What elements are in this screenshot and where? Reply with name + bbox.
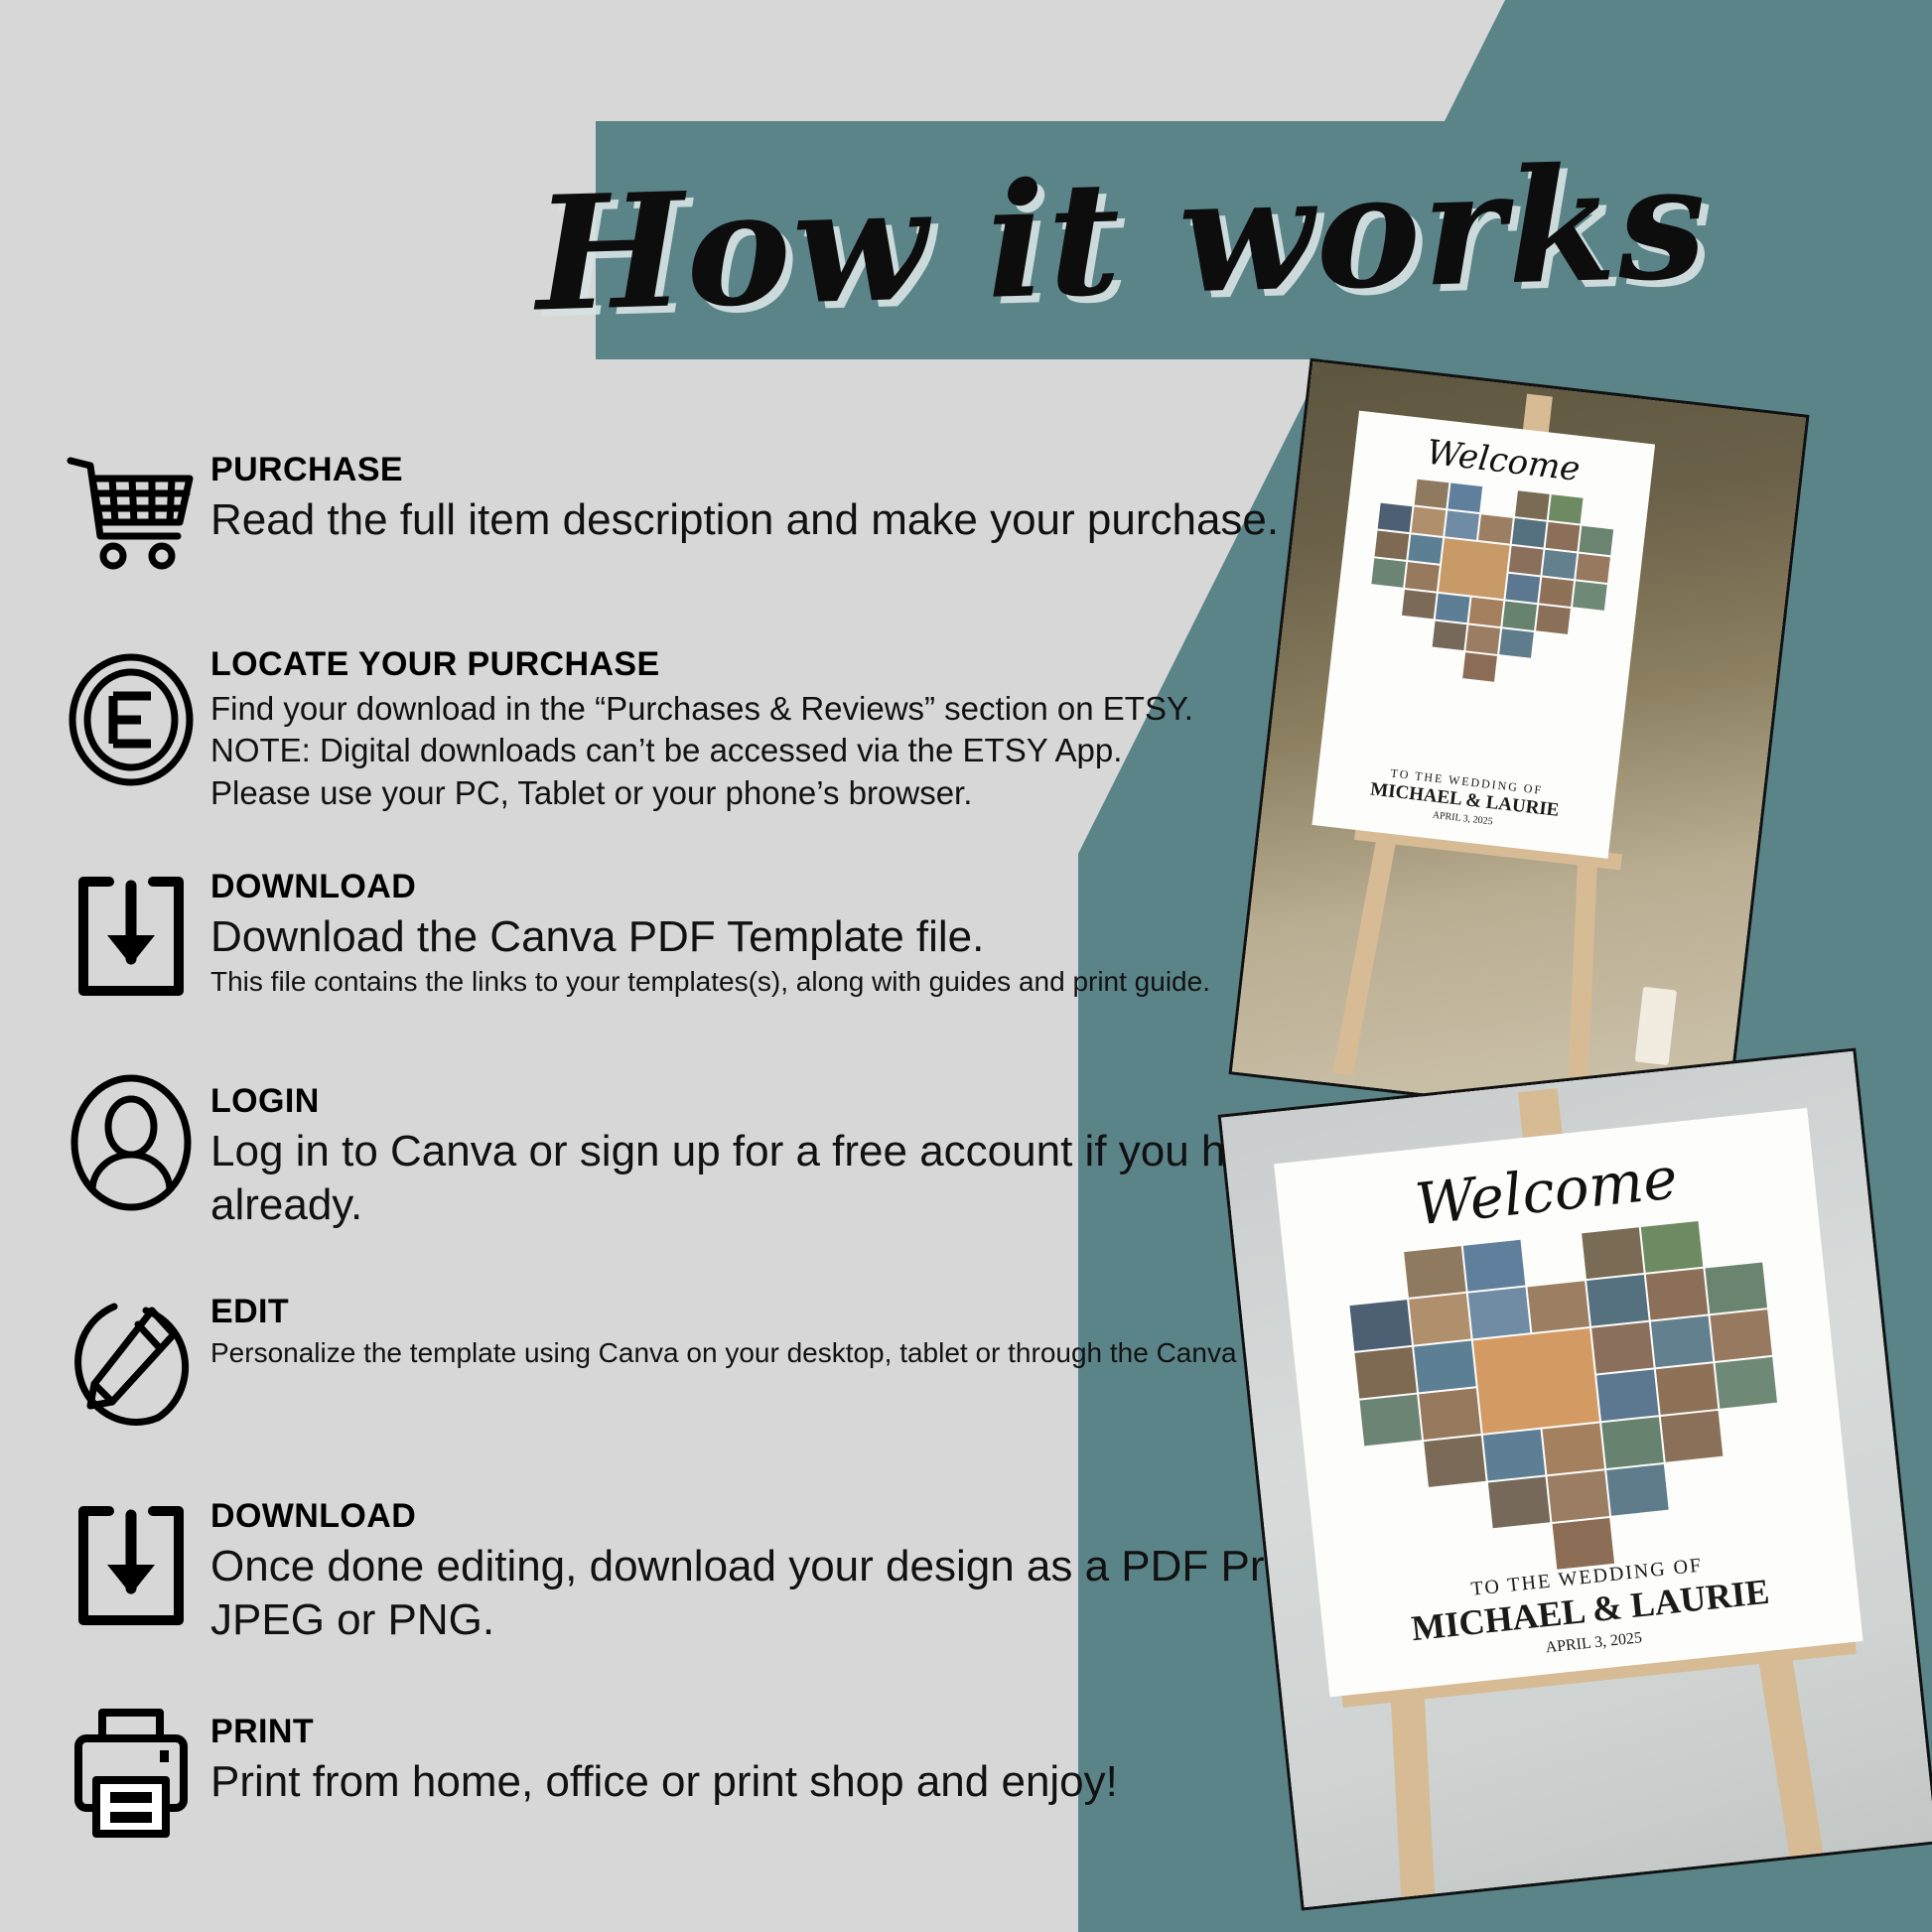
candle-decor [1635,987,1677,1065]
step-title: PRINT [210,1713,1118,1751]
step-body: PRINT Print from home, office or print s… [210,1699,1118,1809]
step-title: PURCHASE [210,451,1279,489]
step-body: DOWNLOAD Download the Canva PDF Template… [210,862,1210,1000]
heart-photo-collage [1362,476,1616,693]
step-body: EDIT Personalize the template using Canv… [210,1287,1299,1371]
step-body: DOWNLOAD Once done editing, download you… [210,1491,1390,1646]
step-line: This file contains the links to your tem… [210,964,1210,1000]
step-line: NOTE: Digital downloads can’t be accesse… [210,730,1193,771]
user-account-icon [52,1068,210,1217]
easel-leg-left [1390,1676,1436,1897]
welcome-sign-card: Welcome [1274,1108,1863,1697]
step-title: DOWNLOAD [210,868,1210,906]
step-body: LOGIN Log in to Canva or sign up for a f… [210,1068,1390,1231]
easel-leg-left [1333,828,1398,1075]
page-title: How it works [632,95,1612,380]
step-line: Read the full item description and make … [210,493,1279,547]
step-body: LOCATE YOUR PURCHASE Find your download … [210,645,1193,814]
step-title: EDIT [210,1293,1299,1331]
easel-leg-right [1568,852,1598,1101]
sign-footer: TO THE WEDDING OF MICHAEL & LAURIE APRIL… [1367,764,1562,841]
welcome-sign-card: Welcome [1311,411,1655,859]
sign-welcome-text: Welcome [1412,1144,1680,1238]
step-line: Find your download in the “Purchases & R… [210,688,1193,730]
step-download-template: DOWNLOAD Download the Canva PDF Template… [0,862,1390,1011]
easel-leg-right [1755,1636,1823,1860]
pencil-edit-icon [52,1287,210,1436]
step-line: Log in to Canva or sign up for a free ac… [210,1125,1390,1231]
printer-icon [52,1699,210,1848]
step-title: LOCATE YOUR PURCHASE [210,645,1193,684]
step-line: Download the Canva PDF Template file. [210,910,1210,964]
step-line: Please use your PC, Tablet or your phone… [210,772,1193,814]
step-line: Print from home, office or print shop an… [210,1755,1118,1809]
heart-photo-collage [1344,1215,1792,1588]
step-purchase: PURCHASE Read the full item description … [0,437,1390,586]
product-photo-welcome-sign-closeup: Welcome [1221,1051,1932,1908]
download-icon [52,862,210,1011]
step-title: DOWNLOAD [210,1497,1390,1536]
etsy-e-icon [52,645,210,794]
download-icon [52,1491,210,1640]
sign-welcome-text: Welcome [1425,433,1583,489]
step-title: LOGIN [210,1082,1390,1121]
step-line: Once done editing, download your design … [210,1540,1390,1646]
step-locate-your-purchase: LOCATE YOUR PURCHASE Find your download … [0,645,1390,814]
product-photo-welcome-sign-easel: Welcome [1232,361,1806,1128]
steps-list: PURCHASE Read the full item description … [0,437,1390,1848]
step-edit: EDIT Personalize the template using Canv… [0,1287,1390,1436]
step-print: PRINT Print from home, office or print s… [0,1699,1390,1848]
shopping-cart-icon [52,437,210,586]
step-line: Personalize the template using Canva on … [210,1335,1299,1371]
step-body: PURCHASE Read the full item description … [210,437,1279,547]
step-download-design: DOWNLOAD Once done editing, download you… [0,1491,1390,1646]
step-login: LOGIN Log in to Canva or sign up for a f… [0,1068,1390,1231]
